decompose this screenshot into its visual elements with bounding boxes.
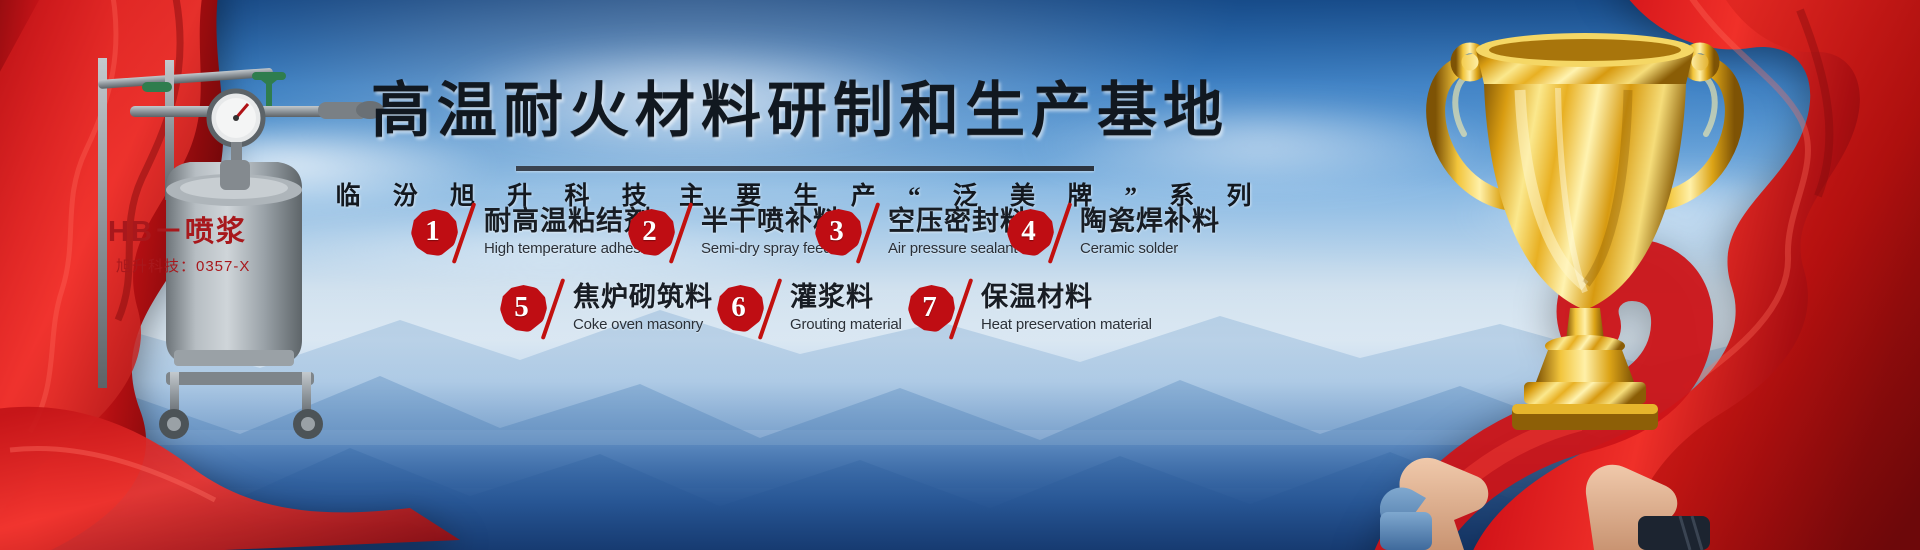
banner-content: 高温耐火材料研制和生产基地 临 汾 旭 升 科 技 主 要 生 产 “ 泛 美 … <box>0 0 1920 550</box>
feature-labels: 保温材料 Heat preservation material <box>981 283 1152 333</box>
slash-divider-icon <box>543 283 569 341</box>
feature-item-5[interactable]: 5 焦炉砌筑料 Coke oven masonry <box>500 283 713 341</box>
slash-divider-icon <box>1050 207 1076 265</box>
slash-divider-icon <box>454 207 480 265</box>
feature-labels: 陶瓷焊补料 Ceramic solder <box>1080 207 1220 257</box>
feature-number-badge: 6 <box>717 285 764 332</box>
feature-number-badge: 3 <box>815 209 862 256</box>
feature-item-2[interactable]: 2 半干喷补料 Semi-dry spray feed <box>628 207 841 265</box>
feature-name-cn: 保温材料 <box>981 283 1152 312</box>
feature-number-badge: 1 <box>411 209 458 256</box>
feature-item-3[interactable]: 3 空压密封料 Air pressure sealant <box>815 207 1028 265</box>
badge-number: 1 <box>411 209 458 256</box>
feature-item-6[interactable]: 6 灌浆料 Grouting material <box>717 283 902 341</box>
page-title: 高温耐火材料研制和生产基地 <box>0 62 1600 149</box>
feature-number-badge: 4 <box>1007 209 1054 256</box>
badge-number: 4 <box>1007 209 1054 256</box>
badge-number: 5 <box>500 285 547 332</box>
feature-name-en: Coke oven masonry <box>573 316 713 333</box>
feature-name-en: Heat preservation material <box>981 316 1152 333</box>
feature-labels: 灌浆料 Grouting material <box>790 283 902 333</box>
feature-item-1[interactable]: 1 耐高温粘结剂 High temperature adhesive <box>411 207 659 265</box>
feature-number-badge: 7 <box>908 285 955 332</box>
feature-number-badge: 2 <box>628 209 675 256</box>
feature-item-4[interactable]: 4 陶瓷焊补料 Ceramic solder <box>1007 207 1220 265</box>
badge-number: 3 <box>815 209 862 256</box>
feature-name-en: Grouting material <box>790 316 902 333</box>
promo-banner: HB－喷浆 旭升科技：0357-X <box>0 0 1920 550</box>
slash-divider-icon <box>858 207 884 265</box>
feature-name-cn: 灌浆料 <box>790 283 902 312</box>
feature-name-cn: 焦炉砌筑料 <box>573 283 713 312</box>
feature-item-7[interactable]: 7 保温材料 Heat preservation material <box>908 283 1152 341</box>
feature-name-cn: 陶瓷焊补料 <box>1080 207 1220 236</box>
slash-divider-icon <box>760 283 786 341</box>
slash-divider-icon <box>671 207 697 265</box>
badge-number: 6 <box>717 285 764 332</box>
feature-name-en: Ceramic solder <box>1080 240 1220 257</box>
feature-number-badge: 5 <box>500 285 547 332</box>
slash-divider-icon <box>951 283 977 341</box>
title-divider <box>516 166 1094 171</box>
badge-number: 7 <box>908 285 955 332</box>
feature-labels: 焦炉砌筑料 Coke oven masonry <box>573 283 713 333</box>
badge-number: 2 <box>628 209 675 256</box>
